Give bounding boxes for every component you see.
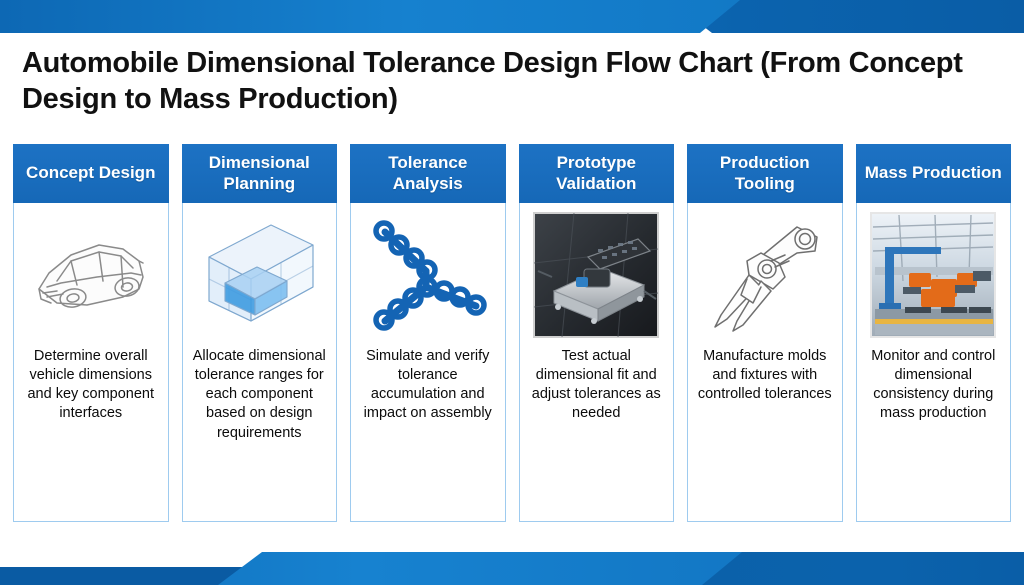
top-banner-light-band: [0, 0, 740, 33]
wireframe-box-icon: [195, 211, 323, 339]
stage-card-mass-production[interactable]: Mass Production: [856, 144, 1012, 522]
stage-card-row: Concept Design: [13, 144, 1011, 522]
stage-text-prototype-validation: Test actual dimensional fit and adjust t…: [520, 347, 674, 424]
stage-body-dimensional-planning: Allocate dimensional tolerance ranges fo…: [182, 203, 338, 522]
pliers-tool-icon: [701, 211, 829, 339]
car-sketch-icon: [27, 211, 155, 339]
assembly-line-photo: [869, 211, 997, 339]
stage-body-tolerance-analysis: Simulate and verify tolerance accumulati…: [350, 203, 506, 522]
stage-card-tolerance-analysis[interactable]: Tolerance Analysis: [350, 144, 506, 522]
slide-canvas: Automobile Dimensional Tolerance Design …: [0, 0, 1024, 585]
stage-header-tolerance-analysis: Tolerance Analysis: [350, 144, 506, 203]
stage-body-concept-design: Determine overall vehicle dimensions and…: [13, 203, 169, 522]
stage-card-prototype-validation[interactable]: Prototype Validation: [519, 144, 675, 522]
stage-text-mass-production: Monitor and control dimensional consiste…: [857, 347, 1011, 424]
page-title: Automobile Dimensional Tolerance Design …: [22, 46, 1002, 118]
stage-header-production-tooling: Production Tooling: [687, 144, 843, 203]
stage-text-production-tooling: Manufacture molds and fixtures with cont…: [688, 347, 842, 404]
stage-card-dimensional-planning[interactable]: Dimensional Planning: [182, 144, 338, 522]
chain-link-y-icon: [364, 211, 492, 339]
measuring-fixture-photo: [532, 211, 660, 339]
stage-header-dimensional-planning: Dimensional Planning: [182, 144, 338, 203]
stage-body-mass-production: Monitor and control dimensional consiste…: [856, 203, 1012, 522]
stage-header-prototype-validation: Prototype Validation: [519, 144, 675, 203]
stage-text-concept-design: Determine overall vehicle dimensions and…: [14, 347, 168, 424]
stage-text-dimensional-planning: Allocate dimensional tolerance ranges fo…: [183, 347, 337, 443]
stage-body-prototype-validation: Test actual dimensional fit and adjust t…: [519, 203, 675, 522]
stage-header-mass-production: Mass Production: [856, 144, 1012, 203]
stage-card-production-tooling[interactable]: Production Tooling: [687, 144, 843, 522]
top-banner: [0, 0, 1024, 36]
bottom-banner: [0, 549, 1024, 585]
stage-text-tolerance-analysis: Simulate and verify tolerance accumulati…: [351, 347, 505, 424]
stage-body-production-tooling: Manufacture molds and fixtures with cont…: [687, 203, 843, 522]
stage-header-concept-design: Concept Design: [13, 144, 169, 203]
stage-card-concept-design[interactable]: Concept Design: [13, 144, 169, 522]
